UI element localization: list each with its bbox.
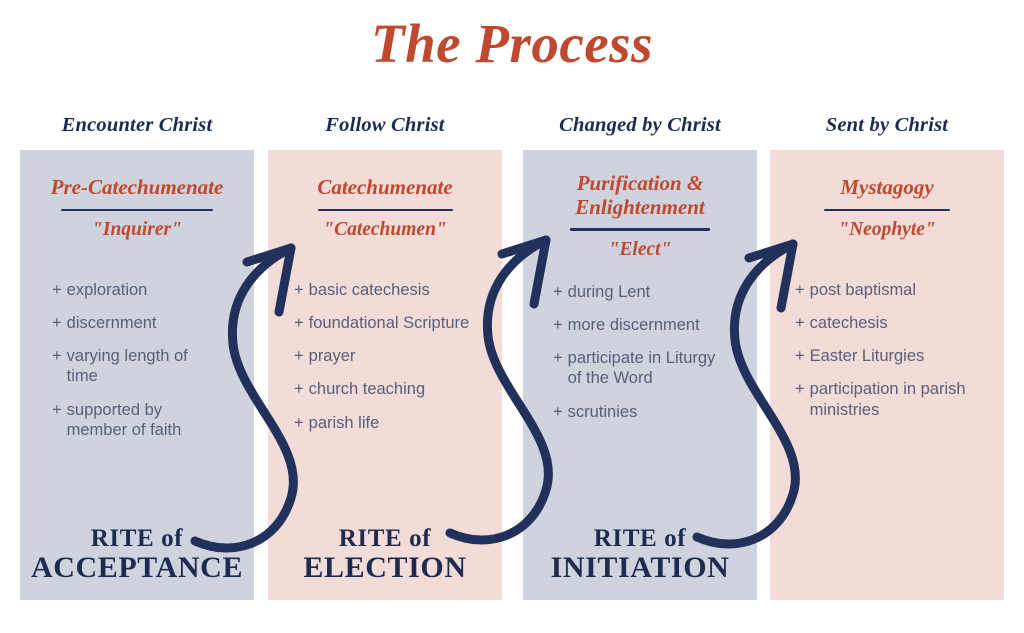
bullet-marker: + — [294, 379, 304, 399]
process-diagram: The Process Encounter Christ Pre-Catechu… — [0, 0, 1024, 633]
stage-alias-elect: "Elect" — [523, 239, 757, 261]
bullet-marker: + — [553, 348, 563, 388]
bullet-marker: + — [553, 402, 563, 422]
list-item: + varying length of time — [52, 346, 212, 386]
column-header-sent-by-christ: Sent by Christ — [770, 114, 1004, 137]
list-item-label: participate in Liturgy of the Word — [568, 348, 717, 388]
stage-alias-neophyte: "Neophyte" — [770, 219, 1004, 241]
list-item: + foundational Scripture — [294, 313, 480, 333]
stage-divider — [61, 209, 213, 212]
stage-divider — [570, 228, 710, 231]
column-panel-catechumenate: Catechumenate "Catechumen" + basic catec… — [268, 150, 502, 600]
list-item: + catechesis — [795, 313, 988, 333]
list-item: + discernment — [52, 313, 212, 333]
stage-name-catechumenate: Catechumenate — [268, 176, 502, 200]
list-item: + more discernment — [553, 315, 717, 335]
bullet-marker: + — [795, 346, 805, 366]
list-item-label: during Lent — [568, 282, 717, 302]
list-item: + supported by member of faith — [52, 400, 212, 440]
stage-divider — [824, 209, 950, 212]
list-item: + exploration — [52, 280, 212, 300]
list-item: + church teaching — [294, 379, 480, 399]
list-item-label: post baptismal — [810, 280, 988, 300]
bullet-marker: + — [553, 282, 563, 302]
list-item: + participation in parish ministries — [795, 379, 988, 419]
column-panel-purification-enlightenment: Purification & Enlightenment "Elect" + d… — [523, 150, 757, 600]
page-title: The Process — [0, 14, 1024, 75]
list-item-label: catechesis — [810, 313, 988, 333]
list-item: + post baptismal — [795, 280, 988, 300]
list-item-label: discernment — [67, 313, 212, 333]
rite-line-1: RITE of — [523, 525, 757, 552]
column-panel-mystagogy: Mystagogy "Neophyte" + post baptismal + … — [770, 150, 1004, 600]
stage-alias-catechumen: "Catechumen" — [268, 219, 502, 241]
rite-line-1: RITE of — [268, 525, 502, 552]
bullet-marker: + — [294, 346, 304, 366]
list-item-label: participation in parish ministries — [810, 379, 988, 419]
bullet-marker: + — [795, 313, 805, 333]
list-item-label: Easter Liturgies — [810, 346, 988, 366]
bullet-marker: + — [795, 280, 805, 300]
column-header-encounter-christ: Encounter Christ — [20, 114, 254, 137]
bullet-list-catechumenate: + basic catechesis + foundational Script… — [268, 280, 502, 446]
bullet-marker: + — [553, 315, 563, 335]
column-header-follow-christ: Follow Christ — [268, 114, 502, 137]
list-item-label: varying length of time — [67, 346, 212, 386]
stage-alias-inquirer: "Inquirer" — [20, 219, 254, 241]
stage-divider — [318, 209, 453, 212]
list-item-label: more discernment — [568, 315, 717, 335]
rite-label-acceptance: RITE of ACCEPTANCE — [20, 525, 254, 584]
bullet-marker: + — [52, 313, 62, 333]
list-item-label: prayer — [309, 346, 480, 366]
list-item: + Easter Liturgies — [795, 346, 988, 366]
list-item: + basic catechesis — [294, 280, 480, 300]
bullet-list-purification: + during Lent + more discernment + parti… — [523, 282, 757, 435]
list-item-label: supported by member of faith — [67, 400, 212, 440]
list-item-label: exploration — [67, 280, 212, 300]
rite-label-initiation: RITE of INITIATION — [523, 525, 757, 584]
list-item: + parish life — [294, 413, 480, 433]
bullet-list-pre-catechumenate: + exploration + discernment + varying le… — [20, 280, 254, 453]
list-item: + participate in Liturgy of the Word — [553, 348, 717, 388]
bullet-marker: + — [294, 413, 304, 433]
list-item-label: scrutinies — [568, 402, 717, 422]
bullet-marker: + — [294, 313, 304, 333]
list-item-label: basic catechesis — [309, 280, 480, 300]
bullet-marker: + — [294, 280, 304, 300]
rite-line-2: ELECTION — [268, 552, 502, 584]
list-item: + prayer — [294, 346, 480, 366]
stage-name-mystagogy: Mystagogy — [770, 176, 1004, 200]
stage-name-purification-enlightenment: Purification & Enlightenment — [523, 172, 757, 219]
bullet-marker: + — [52, 280, 62, 300]
list-item: + scrutinies — [553, 402, 717, 422]
rite-line-2: INITIATION — [523, 552, 757, 584]
column-panel-pre-catechumenate: Pre-Catechumenate "Inquirer" + explorati… — [20, 150, 254, 600]
bullet-marker: + — [52, 400, 62, 440]
rite-line-1: RITE of — [20, 525, 254, 552]
list-item: + during Lent — [553, 282, 717, 302]
list-item-label: church teaching — [309, 379, 480, 399]
stage-name-pre-catechumenate: Pre-Catechumenate — [20, 176, 254, 200]
rite-label-election: RITE of ELECTION — [268, 525, 502, 584]
bullet-list-mystagogy: + post baptismal + catechesis + Easter L… — [770, 280, 1004, 433]
rite-line-2: ACCEPTANCE — [20, 552, 254, 584]
bullet-marker: + — [52, 346, 62, 386]
list-item-label: parish life — [309, 413, 480, 433]
bullet-marker: + — [795, 379, 805, 419]
list-item-label: foundational Scripture — [309, 313, 480, 333]
column-header-changed-by-christ: Changed by Christ — [523, 114, 757, 137]
